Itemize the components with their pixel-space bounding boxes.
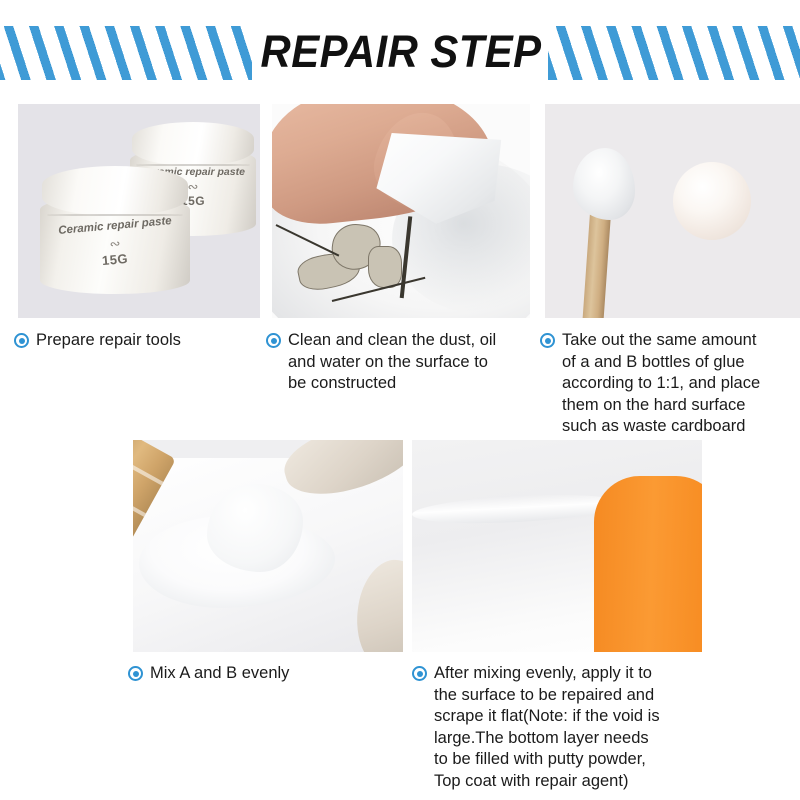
- bullet-icon: [412, 666, 427, 681]
- spatula-band-2: [133, 486, 146, 517]
- bullet-icon: [14, 333, 29, 348]
- page-title: REPAIR STEP: [261, 24, 540, 80]
- spatula-band-1: [133, 455, 163, 486]
- paste-jar-front: Ceramic repair paste ∾ 15G: [40, 166, 190, 298]
- glue-droplet: [673, 162, 751, 240]
- orange-scraper: [594, 476, 702, 652]
- bullet-icon: [128, 666, 143, 681]
- step-5-photo-orange-scraper-applying-paste: [412, 440, 702, 652]
- page-header: REPAIR STEP: [0, 0, 800, 96]
- step-4-caption-text: Mix A and B evenly: [150, 663, 289, 685]
- step-2-caption: Clean and clean the dust, oil and water …: [266, 330, 528, 395]
- step-5-caption-text: After mixing evenly, apply it to the sur…: [434, 663, 660, 792]
- step-1-photo-ceramic-repair-paste-jars: Ceramic repair paste ∾ 15G Ceramic repai…: [18, 104, 260, 318]
- stripe-band-left: [0, 26, 252, 80]
- step-4-photo-mixing-paste-with-spatula: [133, 440, 403, 652]
- stripe-band-right: [548, 26, 800, 80]
- step-3-photo-glue-stick-and-droplet: [545, 104, 800, 318]
- step-3-caption: Take out the same amount of a and B bott…: [540, 330, 798, 438]
- step-3-caption-text: Take out the same amount of a and B bott…: [562, 330, 760, 438]
- bullet-icon: [266, 333, 281, 348]
- step-1-caption-text: Prepare repair tools: [36, 330, 181, 352]
- jar-lid: [132, 122, 254, 166]
- jar-lid: [42, 166, 188, 216]
- step-2-photo-hand-wiping-cracked-basin: [272, 104, 530, 318]
- step-5-caption: After mixing evenly, apply it to the sur…: [412, 663, 792, 792]
- glue-blob-on-stick: [573, 148, 635, 220]
- step-4-caption: Mix A and B evenly: [128, 663, 398, 685]
- step-1-caption: Prepare repair tools: [14, 330, 254, 352]
- ceramic-chip-3: [368, 246, 402, 288]
- bullet-icon: [540, 333, 555, 348]
- paste-blob-upper: [207, 484, 303, 572]
- step-2-caption-text: Clean and clean the dust, oil and water …: [288, 330, 496, 395]
